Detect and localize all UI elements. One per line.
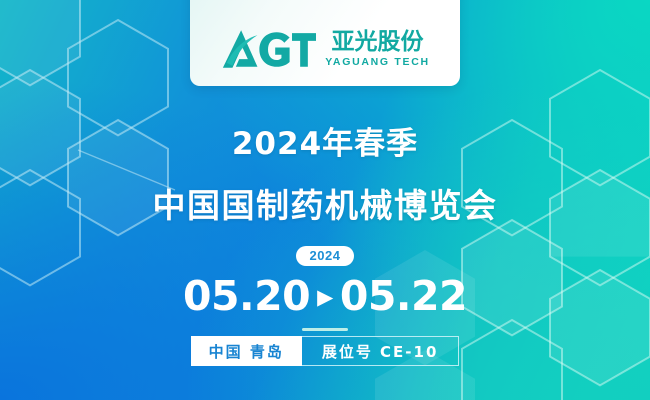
- date-underline-divider: [302, 328, 348, 331]
- logo-company-en: YAGUANG TECH: [325, 57, 430, 68]
- agt-logo-icon: [220, 28, 316, 70]
- date-range: 05.20 ▶ 05.22: [0, 272, 650, 320]
- logo-lockup: 亚光股份 YAGUANG TECH: [220, 28, 430, 70]
- exhibition-banner: 亚光股份 YAGUANG TECH 2024年春季 中国国制药机械博览会 202…: [0, 0, 650, 400]
- location-badge: 中国 青岛: [191, 336, 302, 366]
- logo-card: 亚光股份 YAGUANG TECH: [190, 0, 460, 86]
- date-block: 2024 05.20 ▶ 05.22: [0, 246, 650, 331]
- date-start: 05.20: [183, 272, 310, 320]
- date-end: 05.22: [340, 272, 467, 320]
- title-line-1: 2024年春季: [0, 118, 650, 163]
- play-arrow-icon: ▶: [317, 287, 333, 308]
- title-line-2: 中国国制药机械博览会: [0, 179, 650, 227]
- year-badge: 2024: [296, 246, 355, 266]
- title-block: 2024年春季 中国国制药机械博览会: [0, 118, 650, 227]
- booth-number-badge: 展位号 CE-10: [302, 336, 460, 366]
- logo-text-block: 亚光股份 YAGUANG TECH: [325, 31, 430, 68]
- logo-company-cn: 亚光股份: [331, 31, 423, 54]
- footer-bar-inner: 中国 青岛 展位号 CE-10: [191, 336, 460, 366]
- footer-bar: 中国 青岛 展位号 CE-10: [0, 336, 650, 366]
